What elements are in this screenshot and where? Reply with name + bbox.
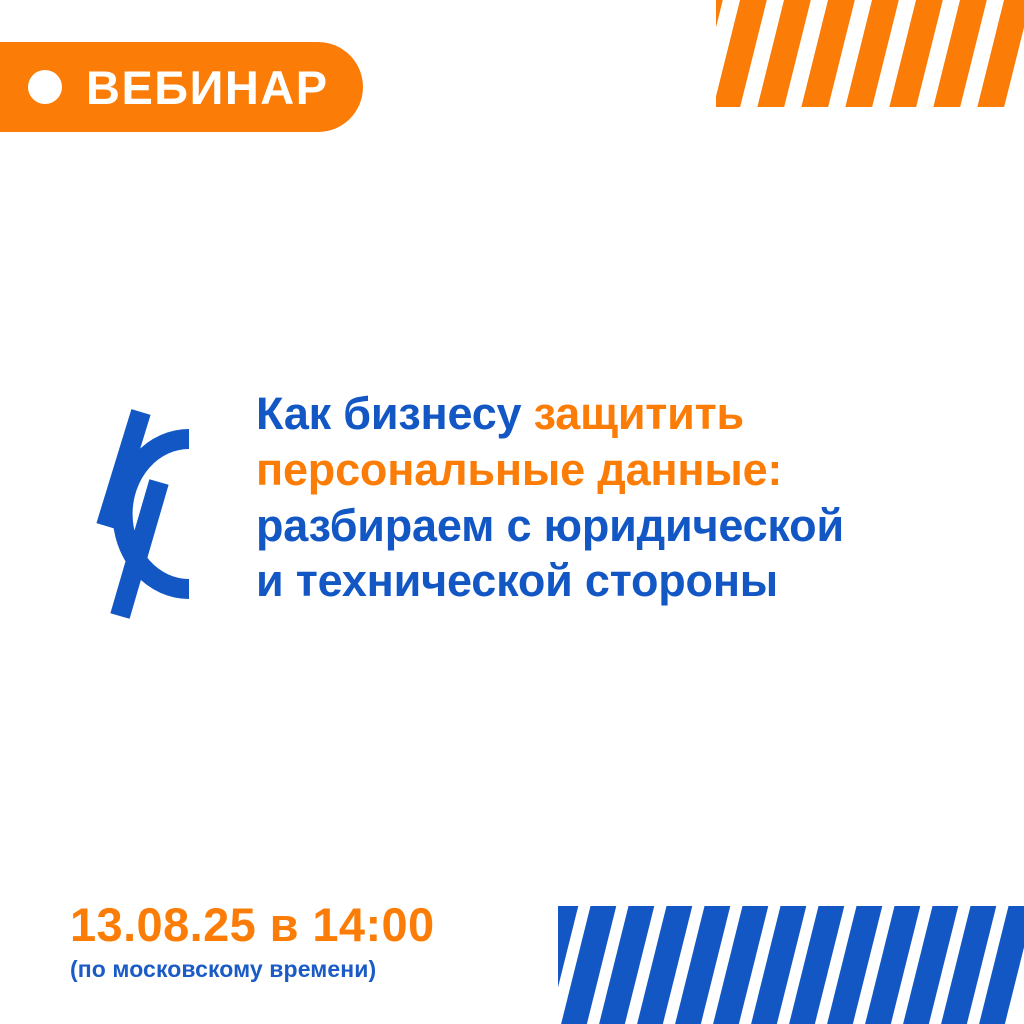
stripe	[588, 906, 661, 1024]
webinar-badge: ВЕБИНАР	[0, 42, 363, 132]
stripe	[930, 906, 1003, 1024]
stripe	[746, 0, 820, 107]
headline-seg-blue: и технической стороны	[256, 555, 778, 606]
stripe	[702, 906, 775, 1024]
webinar-badge-label: ВЕБИНАР	[86, 64, 329, 111]
stripe	[740, 906, 813, 1024]
stripe	[854, 906, 927, 1024]
bullet-dot-icon	[28, 70, 62, 104]
diagonal-stripes-blue	[558, 906, 1024, 1024]
company-logo-icon	[58, 394, 208, 634]
main-content-block: Как бизнесу защитить персональные данные…	[0, 380, 1024, 634]
headline-line-3: разбираем с юридической	[256, 498, 1024, 554]
stripe	[922, 0, 996, 107]
logo-container	[58, 394, 248, 634]
page-title: Как бизнесу защитить персональные данные…	[256, 386, 1024, 609]
event-timezone-note: (по московскому времени)	[70, 958, 435, 981]
webinar-poster: ВЕБИНАР Как бизнесу защитить персональны…	[0, 0, 1024, 1024]
diagonal-stripes-orange	[716, 0, 1024, 107]
headline-line-2: персональные данные:	[256, 442, 1024, 498]
event-datetime: 13.08.25 в 14:00	[70, 900, 435, 949]
headline-seg-blue: разбираем с юридической	[256, 500, 844, 551]
stripe	[892, 906, 965, 1024]
headline-seg-orange: персональные данные:	[256, 444, 782, 495]
event-datetime-block: 13.08.25 в 14:00 (по московскому времени…	[70, 900, 435, 981]
stripe	[716, 0, 731, 107]
stripe	[558, 906, 622, 1024]
stripe	[834, 0, 908, 107]
stripe	[790, 0, 864, 107]
stripe	[778, 906, 851, 1024]
stripe	[664, 906, 737, 1024]
stripe	[878, 0, 952, 107]
headline-line-1: Как бизнесу защитить	[256, 386, 1024, 442]
stripe	[966, 0, 1024, 107]
stripe	[968, 906, 1024, 1024]
headline-seg-blue: Как бизнесу	[256, 388, 534, 439]
headline-line-4: и технической стороны	[256, 553, 1024, 609]
stripe	[816, 906, 889, 1024]
stripe	[716, 0, 775, 107]
stripe	[558, 906, 584, 1024]
headline-seg-orange: защитить	[534, 388, 744, 439]
stripe	[626, 906, 699, 1024]
